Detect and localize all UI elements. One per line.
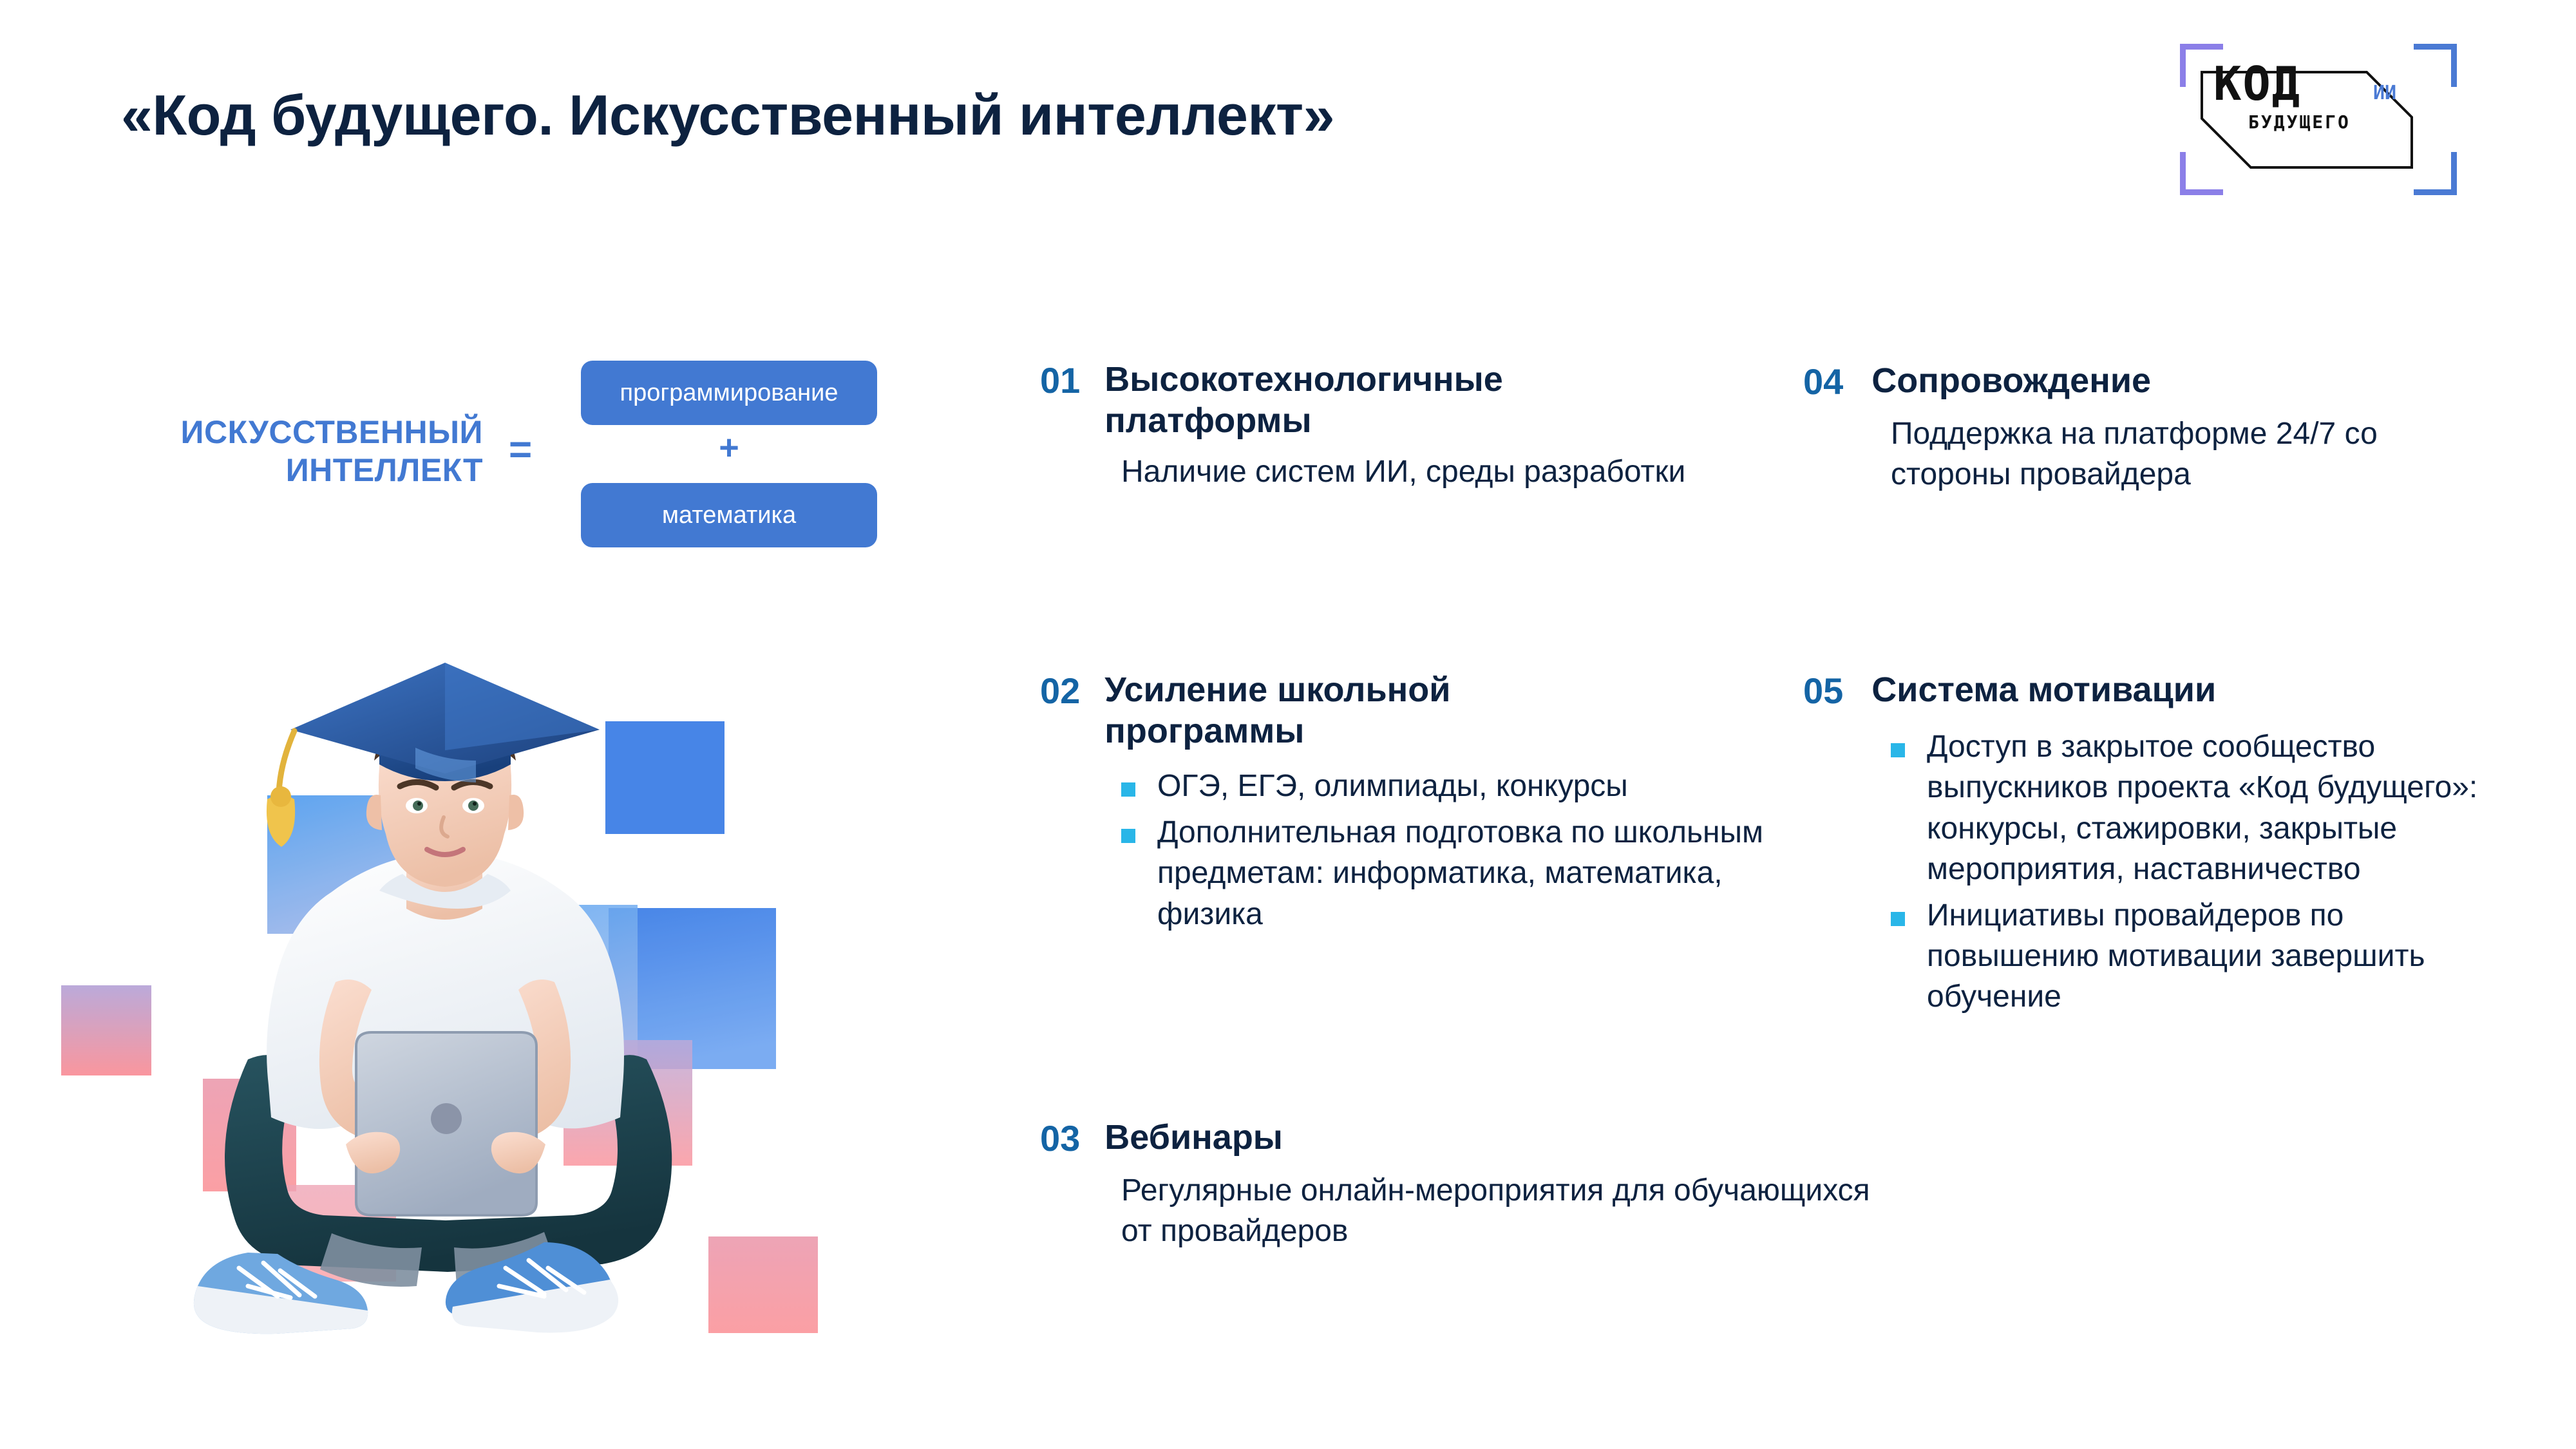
bullet-text: Дополнительная подготовка по школьным пр…: [1157, 812, 1804, 934]
logo-bracket-top-right-icon: [2414, 44, 2457, 87]
feature-header: 02 Усиление школьной программы: [1040, 670, 1804, 752]
bullet-text: Доступ в закрытое сообщество выпускников…: [1927, 726, 2490, 889]
feature-number: 02: [1040, 670, 1080, 712]
feature-bullet-list: Доступ в закрытое сообщество выпускников…: [1891, 726, 2490, 1018]
ai-equation-subject: ИСКУССТВЕННЫЙ ИНТЕЛЛЕКТ: [122, 413, 483, 489]
list-item: Инициативы провайдеров по повышению моти…: [1891, 895, 2490, 1018]
student-figure: [194, 663, 672, 1334]
feature-title: Высокотехнологичные платформы: [1104, 359, 1594, 441]
logo: КОД БУДУЩЕГО ИИ: [2180, 44, 2457, 195]
bullet-text: Инициативы провайдеров по повышению моти…: [1927, 895, 2490, 1018]
feature-description: Поддержка на платформе 24/7 со стороны п…: [1891, 413, 2470, 495]
feature-item-02: 02 Усиление школьной программы ОГЭ, ЕГЭ,…: [1040, 670, 1804, 940]
feature-description: Регулярные онлайн-мероприятия для обучаю…: [1121, 1170, 1881, 1252]
feature-title: Вебинары: [1104, 1117, 1283, 1159]
ai-equation-subject-line2: ИНТЕЛЛЕКТ: [286, 452, 483, 488]
equation-term-programming-label: программирование: [620, 379, 838, 407]
feature-number: 04: [1803, 361, 1843, 403]
feature-item-05: 05 Система мотивации Доступ в закрытое с…: [1803, 670, 2490, 1023]
list-item: Дополнительная подготовка по школьным пр…: [1121, 812, 1804, 934]
feature-number: 03: [1040, 1117, 1080, 1160]
equation-term-programming: программирование: [581, 361, 877, 425]
equation-term-mathematics: математика: [581, 483, 877, 547]
feature-item-04: 04 Сопровождение Поддержка на платформе …: [1803, 361, 2470, 495]
feature-bullet-list: ОГЭ, ЕГЭ, олимпиады, конкурсы Дополнител…: [1121, 766, 1804, 934]
logo-corner-text: ИИ: [2373, 84, 2396, 103]
feature-header: 03 Вебинары: [1040, 1117, 1881, 1160]
feature-header: 05 Система мотивации: [1803, 670, 2490, 712]
list-item: Доступ в закрытое сообщество выпускников…: [1891, 726, 2490, 889]
page-title: «Код будущего. Искусственный интеллект»: [121, 82, 1334, 148]
feature-number: 05: [1803, 670, 1843, 712]
student-illustration: [55, 634, 824, 1340]
feature-title: Сопровождение: [1871, 361, 2151, 402]
list-item: ОГЭ, ЕГЭ, олимпиады, конкурсы: [1121, 766, 1804, 806]
equation-term-mathematics-label: математика: [662, 502, 796, 529]
feature-title: Усиление школьной программы: [1104, 670, 1594, 752]
feature-header: 04 Сопровождение: [1803, 361, 2470, 403]
bullet-square-icon: [1121, 829, 1135, 843]
ai-equation-diagram: ИСКУССТВЕННЫЙ ИНТЕЛЛЕКТ = программирован…: [122, 361, 869, 547]
plus-sign-icon: +: [581, 430, 877, 465]
ai-equation-subject-line1: ИСКУССТВЕННЫЙ: [181, 414, 484, 450]
logo-main-text: КОД: [2213, 61, 2301, 107]
bullet-square-icon: [1891, 743, 1905, 757]
bullet-square-icon: [1121, 782, 1135, 797]
laptop-icon: [356, 1032, 536, 1215]
bullet-text: ОГЭ, ЕГЭ, олимпиады, конкурсы: [1157, 766, 1628, 806]
bullet-square-icon: [1891, 912, 1905, 926]
equals-sign-icon: =: [509, 430, 532, 470]
feature-item-01: 01 Высокотехнологичные платформы Наличие…: [1040, 359, 1685, 493]
feature-title: Система мотивации: [1871, 670, 2216, 711]
logo-sub-text: БУДУЩЕГО: [2248, 113, 2351, 131]
feature-item-03: 03 Вебинары Регулярные онлайн-мероприяти…: [1040, 1117, 1881, 1252]
logo-bracket-bottom-right-icon: [2414, 152, 2457, 195]
feature-header: 01 Высокотехнологичные платформы: [1040, 359, 1685, 441]
feature-description: Наличие систем ИИ, среды разработки: [1121, 451, 1685, 492]
feature-number: 01: [1040, 359, 1080, 402]
